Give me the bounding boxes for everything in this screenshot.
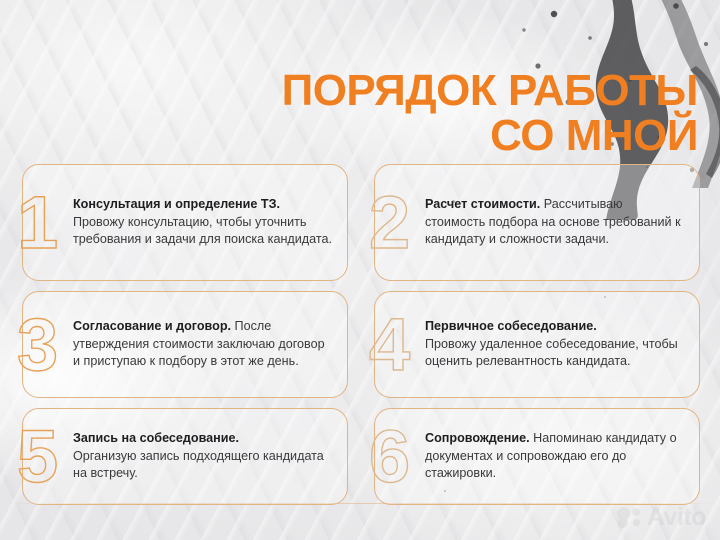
step-text-2: Расчет стоимости. Рассчитываю стоимость … <box>375 196 699 249</box>
speck-decoration <box>452 200 455 203</box>
step-text-5: Запись на собеседование. Организую запис… <box>23 430 347 483</box>
step-card-6: 6 Сопровождение. Напоминаю кандидату о д… <box>374 408 700 505</box>
step-text-6: Сопровождение. Напоминаю кандидату о док… <box>375 430 699 483</box>
step-text-4: Первичное собеседование. Провожу удаленн… <box>375 318 699 371</box>
step-title-2: Расчет стоимости. <box>425 197 540 211</box>
step-description-5: Организую запись подходящего кандидата н… <box>73 449 324 481</box>
page-title-line-2: СО МНОЙ <box>0 114 700 159</box>
step-title-3: Согласование и договор. <box>73 319 231 333</box>
speck-decoration <box>444 490 446 492</box>
step-text-3: Согласование и договор. После утверждени… <box>23 318 347 371</box>
avito-brand-text: Avito <box>647 505 706 530</box>
avito-dots-icon <box>617 507 642 528</box>
step-title-1: Консультация и определение ТЗ. <box>73 197 280 211</box>
step-text-1: Консультация и определение ТЗ. Провожу к… <box>23 196 347 249</box>
avito-watermark: Avito <box>617 505 706 530</box>
step-card-4: 4 Первичное собеседование. Провожу удале… <box>374 291 700 398</box>
poster-root: ПОРЯДОК РАБОТЫ СО МНОЙ 1 Консультация и … <box>0 0 720 540</box>
step-card-2: 2 Расчет стоимости. Рассчитываю стоимост… <box>374 164 700 281</box>
step-card-1: 1 Консультация и определение ТЗ. Провожу… <box>22 164 348 281</box>
step-description-1: Провожу консультацию, чтобы уточнить тре… <box>73 215 332 247</box>
step-card-5: 5 Запись на собеседование. Организую зап… <box>22 408 348 505</box>
step-card-3: 3 Согласование и договор. После утвержде… <box>22 291 348 398</box>
page-title: ПОРЯДОК РАБОТЫ СО МНОЙ <box>0 69 700 159</box>
speck-decoration <box>646 166 648 168</box>
page-title-line-1: ПОРЯДОК РАБОТЫ <box>0 69 700 114</box>
steps-grid: 1 Консультация и определение ТЗ. Провожу… <box>22 164 700 505</box>
step-title-5: Запись на собеседование. <box>73 430 333 448</box>
step-description-4: Провожу удаленное собеседование, чтобы о… <box>425 337 678 369</box>
step-title-6: Сопровождение. <box>425 431 530 445</box>
step-title-4: Первичное собеседование. <box>425 318 685 336</box>
speck-decoration <box>604 296 606 298</box>
